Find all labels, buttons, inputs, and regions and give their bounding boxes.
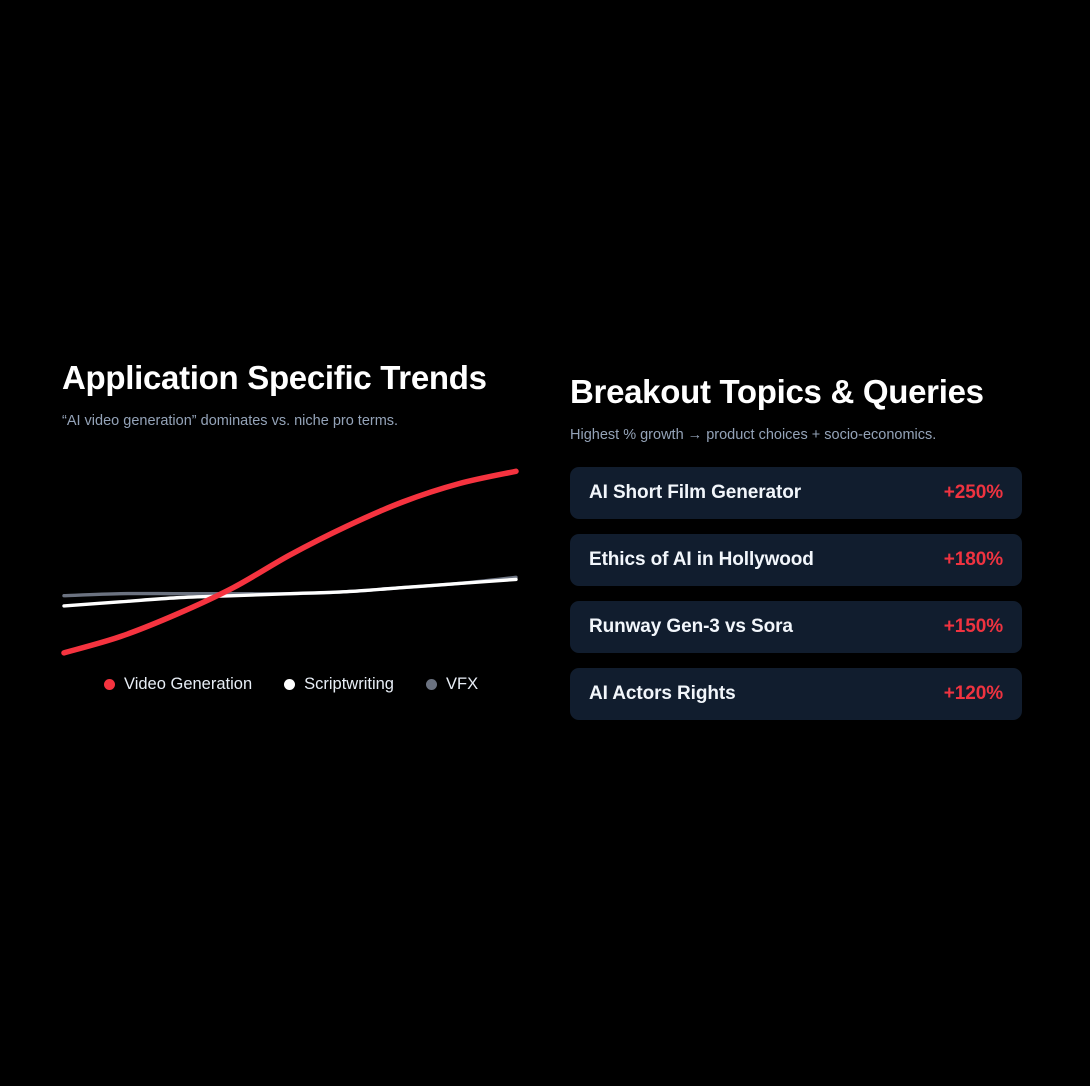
topic-row[interactable]: AI Actors Rights+120% [570, 668, 1022, 720]
trends-line-chart [62, 449, 522, 667]
topic-growth-badge: +250% [944, 482, 1003, 504]
chart-series-line [64, 471, 516, 653]
legend-item[interactable]: VFX [426, 675, 478, 694]
topic-growth-badge: +180% [944, 549, 1003, 571]
legend-item[interactable]: Scriptwriting [284, 675, 394, 694]
line-chart-canvas [62, 449, 522, 667]
topic-name: Ethics of AI in Hollywood [589, 549, 814, 571]
topic-row[interactable]: Runway Gen-3 vs Sora+150% [570, 601, 1022, 653]
topic-row[interactable]: Ethics of AI in Hollywood+180% [570, 534, 1022, 586]
topic-name: Runway Gen-3 vs Sora [589, 616, 793, 638]
legend-dot-icon [284, 679, 295, 690]
breakout-topic-list: AI Short Film Generator+250%Ethics of AI… [570, 467, 1022, 720]
chart-legend: Video GenerationScriptwritingVFX [62, 675, 517, 694]
topic-name: AI Actors Rights [589, 683, 736, 705]
legend-dot-icon [426, 679, 437, 690]
topic-name: AI Short Film Generator [589, 482, 801, 504]
legend-label: Scriptwriting [304, 675, 394, 694]
breakout-subtitle: Highest % growth → product choices + soc… [570, 410, 1022, 445]
page-title: Application Specific Trends [62, 360, 517, 396]
breakout-title: Breakout Topics & Queries [570, 374, 1022, 410]
application-trends-panel: Application Specific Trends “AI video ge… [62, 360, 517, 694]
topic-growth-badge: +120% [944, 683, 1003, 705]
topic-row[interactable]: AI Short Film Generator+250% [570, 467, 1022, 519]
legend-item[interactable]: Video Generation [104, 675, 252, 694]
panel-subtitle: “AI video generation” dominates vs. nich… [62, 396, 517, 431]
legend-dot-icon [104, 679, 115, 690]
breakout-topics-panel: Breakout Topics & Queries Highest % grow… [570, 374, 1022, 720]
legend-label: VFX [446, 675, 478, 694]
topic-growth-badge: +150% [944, 616, 1003, 638]
legend-label: Video Generation [124, 675, 252, 694]
